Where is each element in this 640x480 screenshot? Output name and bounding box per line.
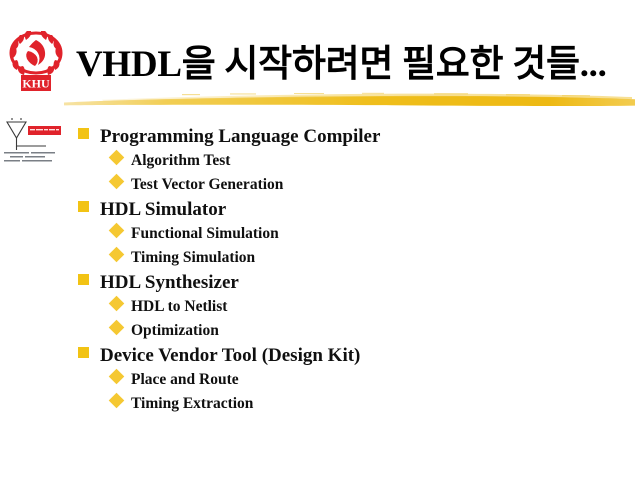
outline-item-level2-label: Place and Route [131, 368, 239, 392]
outline-item-level2: Timing Simulation [78, 246, 618, 270]
outline-item-level1-label: Programming Language Compiler [100, 124, 380, 149]
outline-item-level2: Place and Route [78, 368, 618, 392]
diamond-bullet-icon [109, 150, 125, 166]
brush-stroke-divider [62, 86, 637, 112]
outline-item-level2-label: Optimization [131, 319, 219, 343]
outline-item-level2: Functional Simulation [78, 222, 618, 246]
outline-item-level2-label: Timing Simulation [131, 246, 255, 270]
outline-item-level1: HDL Simulator [78, 197, 618, 222]
diamond-bullet-icon [109, 393, 125, 409]
outline-item-level1: Device Vendor Tool (Design Kit) [78, 343, 618, 368]
outline-item-level2: Algorithm Test [78, 149, 618, 173]
diamond-bullet-icon [109, 369, 125, 385]
outline-item-level2-label: Algorithm Test [131, 149, 230, 173]
outline-group: Device Vendor Tool (Design Kit) Place an… [78, 343, 618, 416]
outline-item-level2: Optimization [78, 319, 618, 343]
diamond-bullet-icon [109, 223, 125, 239]
square-bullet-icon [78, 347, 89, 358]
square-bullet-icon [78, 201, 89, 212]
slide-title: VHDL을 시작하려면 필요한 것들... [76, 40, 634, 90]
outline-group: HDL Simulator Functional Simulation Timi… [78, 197, 618, 270]
outline-item-level2-label: HDL to Netlist [131, 295, 227, 319]
diamond-bullet-icon [109, 247, 125, 263]
outline-item-level1: HDL Synthesizer [78, 270, 618, 295]
outline-item-level2: Timing Extraction [78, 392, 618, 416]
square-bullet-icon [78, 128, 89, 139]
outline-item-level1: Programming Language Compiler [78, 124, 618, 149]
diamond-bullet-icon [109, 296, 125, 312]
khu-emblem-logo: KHU [8, 27, 64, 93]
outline-item-level2-label: Functional Simulation [131, 222, 279, 246]
outline-item-level2-label: Test Vector Generation [131, 173, 283, 197]
lab-logo [2, 110, 64, 166]
outline-item-level1-label: HDL Synthesizer [100, 270, 239, 295]
slide-body-outline: Programming Language Compiler Algorithm … [78, 124, 618, 416]
square-bullet-icon [78, 274, 89, 285]
outline-item-level2: HDL to Netlist [78, 295, 618, 319]
outline-item-level1-label: Device Vendor Tool (Design Kit) [100, 343, 360, 368]
outline-item-level1-label: HDL Simulator [100, 197, 226, 222]
khu-emblem-abbreviation: KHU [22, 77, 50, 91]
outline-item-level2: Test Vector Generation [78, 173, 618, 197]
outline-item-level2-label: Timing Extraction [131, 392, 253, 416]
outline-group: HDL Synthesizer HDL to Netlist Optimizat… [78, 270, 618, 343]
diamond-bullet-icon [109, 320, 125, 336]
outline-group: Programming Language Compiler Algorithm … [78, 124, 618, 197]
presentation-slide: KHU [0, 0, 640, 480]
diamond-bullet-icon [109, 174, 125, 190]
